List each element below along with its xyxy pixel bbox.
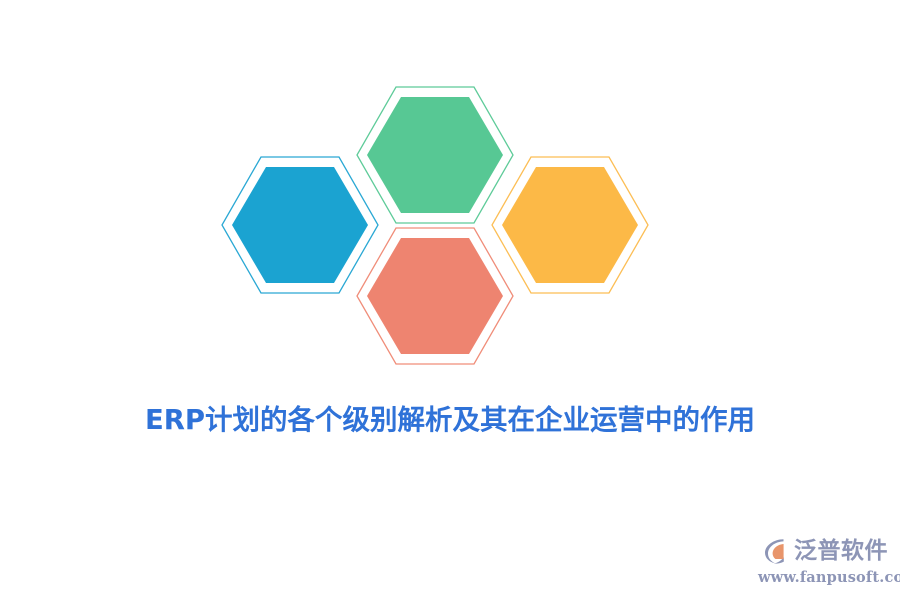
logo-row: 泛普软件 <box>758 534 888 568</box>
salmon-hexagon-fill <box>367 238 503 354</box>
slide-canvas: ERP计划的各个级别解析及其在企业运营中的作用 泛普软件 www.fanpuso… <box>0 0 900 600</box>
logo-website-url: www.fanpusoft.com <box>758 571 888 586</box>
orange-hexagon-fill <box>502 167 638 283</box>
brand-logo[interactable]: 泛普软件 www.fanpusoft.com <box>758 534 888 592</box>
blue-hexagon-fill <box>232 167 368 283</box>
title-band: ERP计划的各个级别解析及其在企业运营中的作用 <box>0 398 900 444</box>
salmon-hexagon <box>357 228 513 364</box>
green-hexagon-fill <box>367 97 503 213</box>
orange-hexagon <box>492 157 648 293</box>
green-hexagon <box>357 87 513 223</box>
blue-hexagon <box>222 157 378 293</box>
page-title: ERP计划的各个级别解析及其在企业运营中的作用 <box>145 407 755 435</box>
fanpu-logo-mark-icon <box>761 536 791 566</box>
logo-company-name: 泛普软件 <box>794 540 888 563</box>
hexagon-cluster-graphic <box>0 0 900 420</box>
